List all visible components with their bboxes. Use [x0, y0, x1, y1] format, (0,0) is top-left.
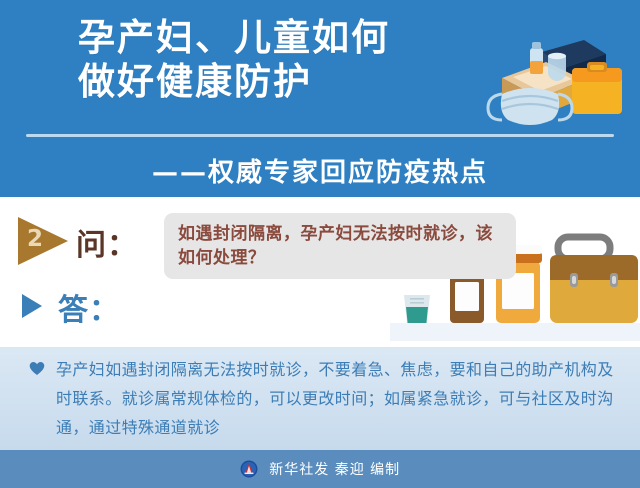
- question-label: 问：: [76, 220, 138, 264]
- answer-label: 答：: [58, 285, 120, 329]
- medical-kit-illustration: [480, 28, 630, 132]
- xinhua-logo: [240, 460, 258, 482]
- credit-text: 新华社发 秦迎 编制: [269, 462, 400, 478]
- page-subtitle: ——权威专家回应防疫热点: [0, 152, 640, 189]
- title-line-2: 做好健康防护: [78, 60, 478, 104]
- footer-bar: 新华社发 秦迎 编制: [0, 450, 640, 488]
- question-number-badge: 2: [18, 217, 72, 265]
- blue-triangle-icon: [22, 294, 42, 318]
- answer-row: 答：: [18, 285, 318, 329]
- qa-section: 2 问： 如遇封闭隔离，孕产妇无法按时就诊，该如何处理？ 答：: [0, 197, 640, 347]
- answer-panel: 孕产妇如遇封闭隔离无法按时就诊，不要着急、焦虑，要和自己的助产机构及时联系。就诊…: [0, 347, 640, 450]
- page-title: 孕产妇、儿童如何 做好健康防护: [78, 16, 478, 104]
- title-line-1: 孕产妇、儿童如何: [78, 16, 478, 60]
- header-divider: [26, 134, 614, 137]
- infographic-poster: 孕产妇、儿童如何 做好健康防护: [0, 0, 640, 488]
- question-bubble: 如遇封闭隔离，孕产妇无法按时就诊，该如何处理？: [164, 213, 516, 279]
- header-banner: 孕产妇、儿童如何 做好健康防护: [0, 0, 640, 197]
- heart-icon: [28, 359, 46, 377]
- credit-line: 新华社发 秦迎 编制: [0, 459, 640, 482]
- answer-text: 孕产妇如遇封闭隔离无法按时就诊，不要着急、焦虑，要和自己的助产机构及时联系。就诊…: [56, 355, 618, 442]
- question-number: 2: [22, 226, 48, 252]
- question-row: 2 问： 如遇封闭隔离，孕产妇无法按时就诊，该如何处理？: [18, 213, 628, 275]
- question-text: 如遇封闭隔离，孕产妇无法按时就诊，该如何处理？: [178, 222, 502, 270]
